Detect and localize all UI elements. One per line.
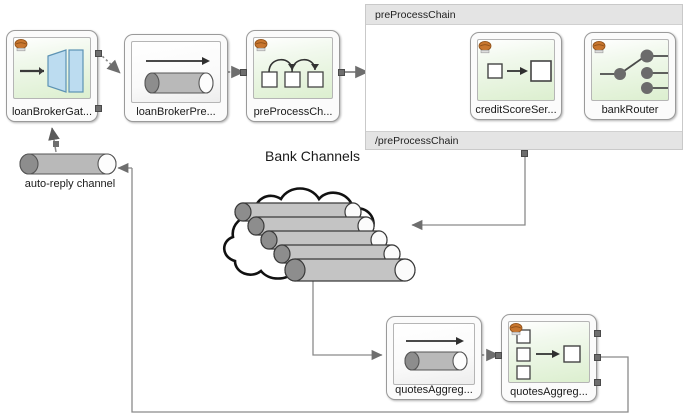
pipe-icon — [18, 152, 118, 176]
node-creditscoreservice[interactable]: creditScoreSer... — [470, 32, 562, 120]
node-label: loanBrokerGat... — [7, 106, 97, 118]
node-handle-pre-out[interactable] — [240, 69, 247, 76]
channel-pipe-icon — [132, 42, 221, 103]
channel-auto-reply[interactable] — [18, 152, 118, 176]
node-handle-router-out[interactable] — [521, 150, 528, 157]
container-footer: /preProcessChain — [366, 131, 682, 149]
node-label: preProcessCh... — [247, 106, 339, 118]
channel-pipe-icon — [394, 324, 475, 382]
node-handle-aggregator-mid[interactable] — [594, 354, 601, 361]
node-label: loanBrokerPre... — [125, 106, 227, 118]
node-loanbrokergateway[interactable]: loanBrokerGat... — [6, 30, 98, 122]
cloud-icon — [205, 165, 405, 285]
node-label: quotesAggreg... — [502, 386, 596, 398]
node-icon-area — [253, 37, 333, 99]
node-quotesaggregator[interactable]: quotesAggreg... — [501, 314, 597, 402]
node-handle-channel-in[interactable] — [495, 352, 502, 359]
node-label: creditScoreSer... — [471, 104, 561, 116]
node-bankrouter[interactable]: bankRouter — [584, 32, 676, 120]
container-title: preProcessChain — [366, 5, 682, 25]
connection-gateway-to-pre — [99, 53, 120, 73]
node-icon-area — [13, 37, 91, 99]
node-handle-gateway-top[interactable] — [95, 50, 102, 57]
node-handle-aggregator-top[interactable] — [594, 330, 601, 337]
bean-icon — [254, 38, 268, 52]
node-handle-aggregator-bottom[interactable] — [594, 379, 601, 386]
connection-router-to-cloud — [412, 155, 525, 225]
diagram-canvas: preProcessChain /preProcessChain loanBro… — [0, 0, 688, 419]
channel-auto-reply-label: auto-reply channel — [12, 178, 128, 190]
node-icon-area — [591, 39, 669, 101]
node-icon-area — [131, 41, 221, 103]
node-icon-area — [393, 323, 475, 385]
node-label: quotesAggreg... — [387, 384, 481, 396]
node-label: bankRouter — [585, 104, 675, 116]
node-loanbrokerpre[interactable]: loanBrokerPre... — [124, 34, 228, 122]
connection-autoreply-to-gateway — [52, 128, 59, 152]
bean-icon — [509, 322, 523, 336]
cloud-bank-channels[interactable] — [205, 165, 405, 285]
bean-icon — [14, 38, 28, 52]
cloud-title: Bank Channels — [265, 148, 360, 164]
node-icon-area — [477, 39, 555, 101]
node-quotesaggregator-channel[interactable]: quotesAggreg... — [386, 316, 482, 400]
bean-icon — [592, 40, 606, 54]
node-handle-gateway-bottom[interactable] — [95, 105, 102, 112]
node-icon-area — [508, 321, 590, 383]
bean-icon — [478, 40, 492, 54]
node-preprocesschain[interactable]: preProcessCh... — [246, 30, 340, 122]
node-handle-chain-right[interactable] — [338, 69, 345, 76]
